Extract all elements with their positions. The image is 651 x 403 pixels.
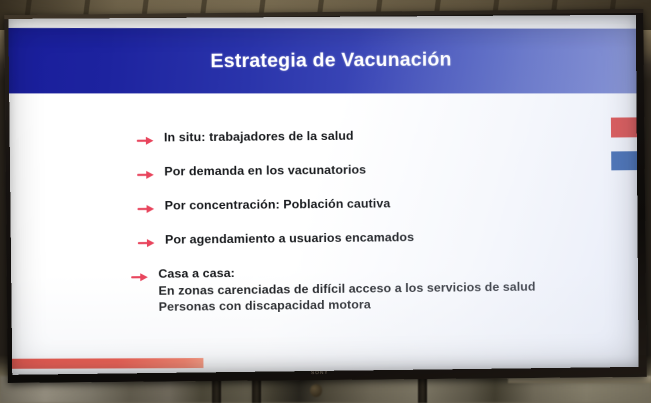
television: SONY Estrategia de Vacunación: [4, 9, 647, 383]
tv-screen: Estrategia de Vacunación In situ: trabaj…: [8, 15, 638, 375]
red-arrow-icon: [137, 168, 156, 182]
tv-stand-leg-right: [418, 377, 427, 403]
tv-stand-leg-left-2: [252, 377, 261, 403]
list-item: In situ: trabajadores de la salud: [137, 127, 606, 148]
list-item-casa-a-casa: Casa a casa: En zonas carenciadas de dif…: [131, 262, 607, 315]
list-item-label: In situ: trabajadores de la salud: [164, 129, 354, 146]
presentation-slide: Estrategia de Vacunación In situ: trabaj…: [8, 15, 638, 375]
list-item-label: Por concentración: Población cautiva: [165, 196, 391, 213]
slide-bullet-list: In situ: trabajadores de la salud Por de…: [137, 127, 608, 316]
red-arrow-icon: [137, 133, 156, 147]
list-item: Por agendamiento a usuarios encamados: [138, 228, 607, 250]
list-item-label: Por agendamiento a usuarios encamados: [165, 230, 414, 248]
casa-a-casa-block: Casa a casa: En zonas carenciadas de dif…: [158, 263, 535, 315]
accent-blue-square: [611, 151, 637, 170]
stand-knob: [310, 384, 322, 397]
casa-a-casa-line-2: Personas con discapacidad motora: [159, 295, 536, 315]
accent-red-square: [611, 117, 637, 137]
red-arrow-icon: [137, 202, 156, 216]
slide-title: Estrategia de Vacunación: [210, 49, 451, 74]
list-item-label: Por demanda en los vacunatorios: [164, 163, 366, 180]
list-item: Por demanda en los vacunatorios: [137, 160, 606, 181]
red-arrow-icon: [131, 270, 150, 284]
slide-title-bar: Estrategia de Vacunación: [8, 28, 636, 93]
photo-of-presentation-screen: SONY Estrategia de Vacunación: [0, 0, 651, 403]
slide-bottom-red-bar: [12, 358, 203, 369]
red-arrow-icon: [138, 236, 157, 250]
list-item: Por concentración: Población cautiva: [137, 194, 606, 216]
